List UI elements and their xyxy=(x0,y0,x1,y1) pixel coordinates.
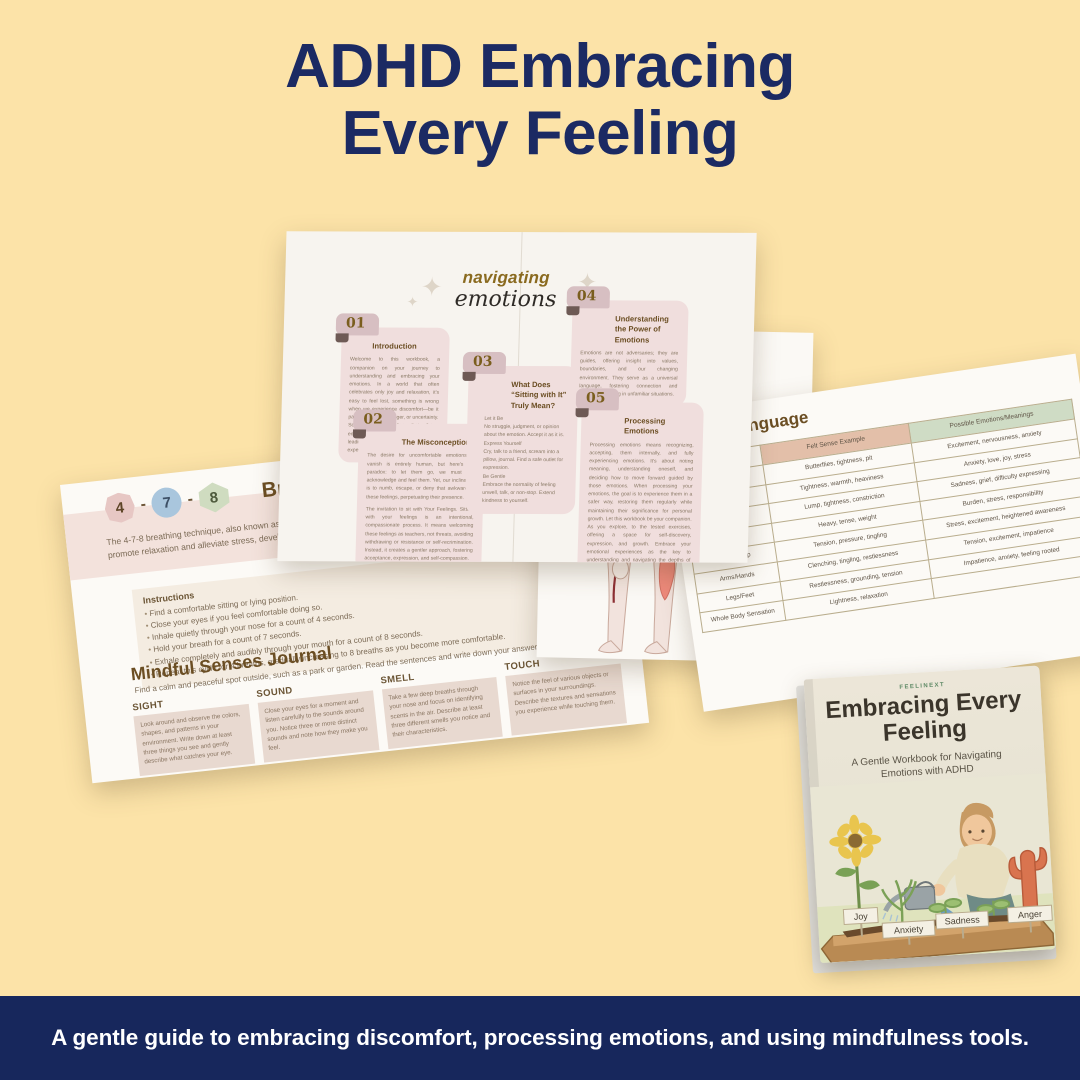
book-mockup: FEELINEXT Embracing Every Feeling A Gent… xyxy=(804,665,1065,969)
book-title: Embracing Every Feeling xyxy=(805,685,1044,752)
sense-text: Look around and observe the colors, shap… xyxy=(133,704,255,776)
breath-number-8: 8 xyxy=(197,481,230,514)
card-list-item: Cry, talk to a friend, scream into a pil… xyxy=(483,448,568,473)
headline-navigating: navigating xyxy=(455,268,557,288)
sense-text: Notice the feel of various objects or su… xyxy=(505,664,627,736)
sense-text: Close your eyes for a moment and listen … xyxy=(257,690,379,762)
card-list-item: Be Gentle xyxy=(483,472,567,481)
sense-card-sound: SOUND Close your eyes for a moment and l… xyxy=(256,677,379,763)
card-title: Understanding the Power of Emotions xyxy=(614,314,679,345)
book-title-line-2: Feeling xyxy=(882,715,967,747)
mindmap-card-05: 05 Processing Emotions Processing emotio… xyxy=(577,402,704,563)
card-body-2: The invitation to sit with Your Feelings… xyxy=(364,505,474,563)
sense-card-sight: SIGHT Look around and observe the colors… xyxy=(132,690,255,776)
card-title: Introduction xyxy=(372,342,440,352)
sense-card-smell: SMELL Take a few deep breaths through yo… xyxy=(380,663,503,749)
card-title: The Misconception xyxy=(402,438,476,449)
mindmap-card-03: 03 What Does “Sitting with It” Truly Mea… xyxy=(465,366,579,514)
card-number-badge: 04 xyxy=(566,286,610,308)
garden-illustration: Joy Anxiety Sadness Anger xyxy=(810,773,1056,963)
card-title: Processing Emotions xyxy=(624,416,695,437)
sparkle-icon: ✦ xyxy=(421,272,444,303)
sparkle-icon: ✦ xyxy=(406,294,418,311)
card-list: Let it Be No struggle, judgment, or opin… xyxy=(482,415,569,506)
sense-card-touch: TOUCH Notice the feel of various objects… xyxy=(504,650,627,736)
card-body: Processing emotions means recognizing, a… xyxy=(586,441,694,563)
mindmap-headline: navigating emotions xyxy=(454,268,557,312)
garden-label-joy: Joy xyxy=(853,911,868,922)
title-line-2: Every Feeling xyxy=(0,101,1080,168)
headline-emotions: emotions xyxy=(454,287,556,312)
breath-number-7: 7 xyxy=(150,486,183,519)
card-list-item: No struggle, judgment, or opinion about … xyxy=(484,423,568,440)
promo-graphic: ADHD Embracing Every Feeling 4 - 7 - 8 B… xyxy=(0,0,1080,1080)
card-list-item: Express Yourself xyxy=(484,439,568,448)
card-list-item: Embrace the normality of feeling unwell,… xyxy=(482,481,567,506)
breath-dash-2: - xyxy=(187,491,194,509)
title-line-1: ADHD Embracing xyxy=(285,32,795,101)
card-number-badge: 05 xyxy=(576,388,620,410)
card-number-badge: 01 xyxy=(336,313,380,335)
card-number-badge: 03 xyxy=(463,352,507,374)
breath-dash-1: - xyxy=(140,496,147,514)
breath-number-4: 4 xyxy=(103,491,136,524)
garden-label-anger: Anger xyxy=(1018,909,1043,920)
card-list-item: Let it Be xyxy=(484,415,568,424)
book-cover: FEELINEXT Embracing Every Feeling A Gent… xyxy=(804,665,1056,962)
card-title: What Does “Sitting with It” Truly Mean? xyxy=(511,380,570,411)
garden-label-anxiety: Anxiety xyxy=(894,924,925,936)
navigating-emotions-sheet: ✦ ✦ ✦ ✦ navigating emotions 01 Introduct… xyxy=(277,231,756,563)
footer-tagline: A gentle guide to embracing discomfort, … xyxy=(11,1024,1069,1051)
card-body: The desire for uncomfortable emotions to… xyxy=(366,452,475,502)
footer-banner: A gentle guide to embracing discomfort, … xyxy=(0,996,1080,1080)
card-number-badge: 02 xyxy=(353,409,397,431)
sense-text: Take a few deep breaths through your nos… xyxy=(381,677,503,749)
garden-label-sadness: Sadness xyxy=(944,914,980,926)
page-title: ADHD Embracing Every Feeling xyxy=(0,34,1080,168)
